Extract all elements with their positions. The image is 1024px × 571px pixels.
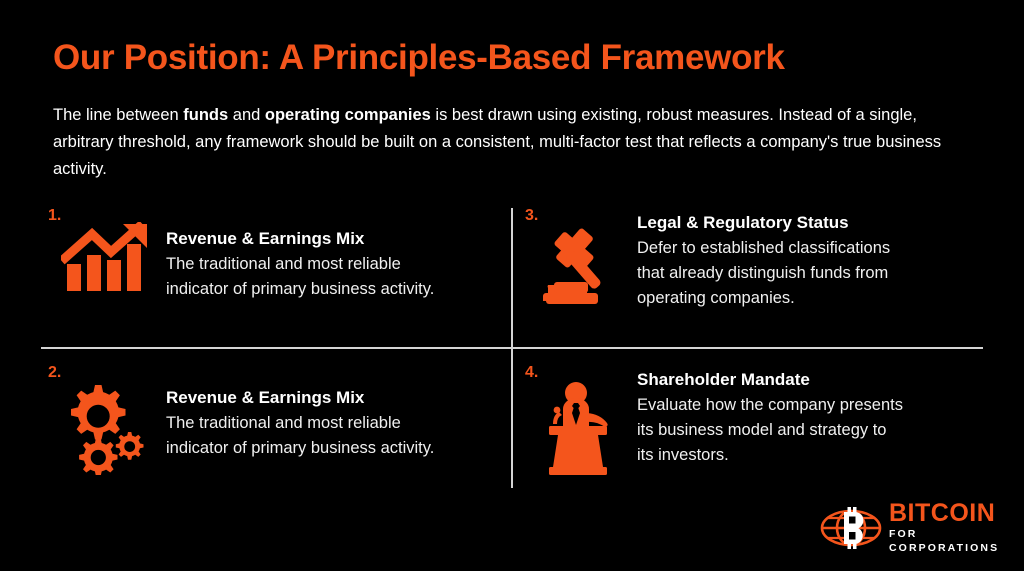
item-text-1: Revenue & Earnings Mix The traditional a…: [166, 208, 434, 302]
item-body-line-1: Defer to established classifications: [637, 236, 890, 261]
item-body-line-1: The traditional and most reliable: [166, 252, 434, 277]
item-body-line-1: Evaluate how the company presents: [637, 393, 903, 418]
item-body-line-2: indicator of primary business activity.: [166, 277, 434, 302]
logo-word-bitcoin: BITCOIN: [889, 501, 1024, 526]
item-body-line-2: indicator of primary business activity.: [166, 436, 434, 461]
item-body-line-3: operating companies.: [637, 286, 890, 311]
item-number-4: 4.: [525, 365, 538, 381]
globe-bitcoin-icon: [820, 505, 882, 551]
item-heading-4: Shareholder Mandate: [637, 369, 903, 391]
principle-item-4: 4.: [525, 365, 975, 479]
item-body-1: The traditional and most reliable indica…: [166, 252, 434, 302]
item-body-2: The traditional and most reliable indica…: [166, 411, 434, 461]
item-heading-3: Legal & Regulatory Status: [637, 212, 890, 234]
item-body-line-2: its business model and strategy to: [637, 418, 903, 443]
item-text-2: Revenue & Earnings Mix The traditional a…: [166, 365, 434, 461]
item-body-line-2: that already distinguish funds from: [637, 261, 890, 286]
brand-logo: BITCOIN FOR CORPORATIONS: [820, 500, 1024, 555]
slide-root: Our Position: A Principles-Based Framewo…: [0, 0, 1024, 571]
item-number-3: 3.: [525, 208, 538, 224]
gears-icon: [48, 365, 166, 475]
item-text-4: Shareholder Mandate Evaluate how the com…: [637, 365, 903, 468]
item-heading-1: Revenue & Earnings Mix: [166, 228, 434, 250]
logo-wordmark: BITCOIN FOR CORPORATIONS: [889, 500, 1024, 555]
principle-item-3: 3. Legal & Reg: [525, 208, 975, 311]
item-body-line-3: its investors.: [637, 443, 903, 468]
principle-item-2: 2. Revenue & E: [48, 365, 498, 475]
gavel-icon: [525, 208, 637, 306]
item-body-4: Evaluate how the company presents its bu…: [637, 393, 903, 468]
principles-grid: 1. Revenue & Earnings Mix The traditiona…: [0, 0, 1024, 571]
item-number-1: 1.: [48, 208, 61, 224]
speaker-podium-icon: [525, 365, 637, 479]
item-text-3: Legal & Regulatory Status Defer to estab…: [637, 208, 890, 311]
item-body-line-1: The traditional and most reliable: [166, 411, 434, 436]
bar-chart-growth-icon: [48, 208, 166, 294]
principle-item-1: 1. Revenue & Earnings Mix The traditiona…: [48, 208, 498, 302]
logo-tagline: FOR CORPORATIONS: [889, 527, 1024, 555]
item-body-3: Defer to established classifications tha…: [637, 236, 890, 311]
item-number-2: 2.: [48, 365, 61, 381]
item-heading-2: Revenue & Earnings Mix: [166, 387, 434, 409]
